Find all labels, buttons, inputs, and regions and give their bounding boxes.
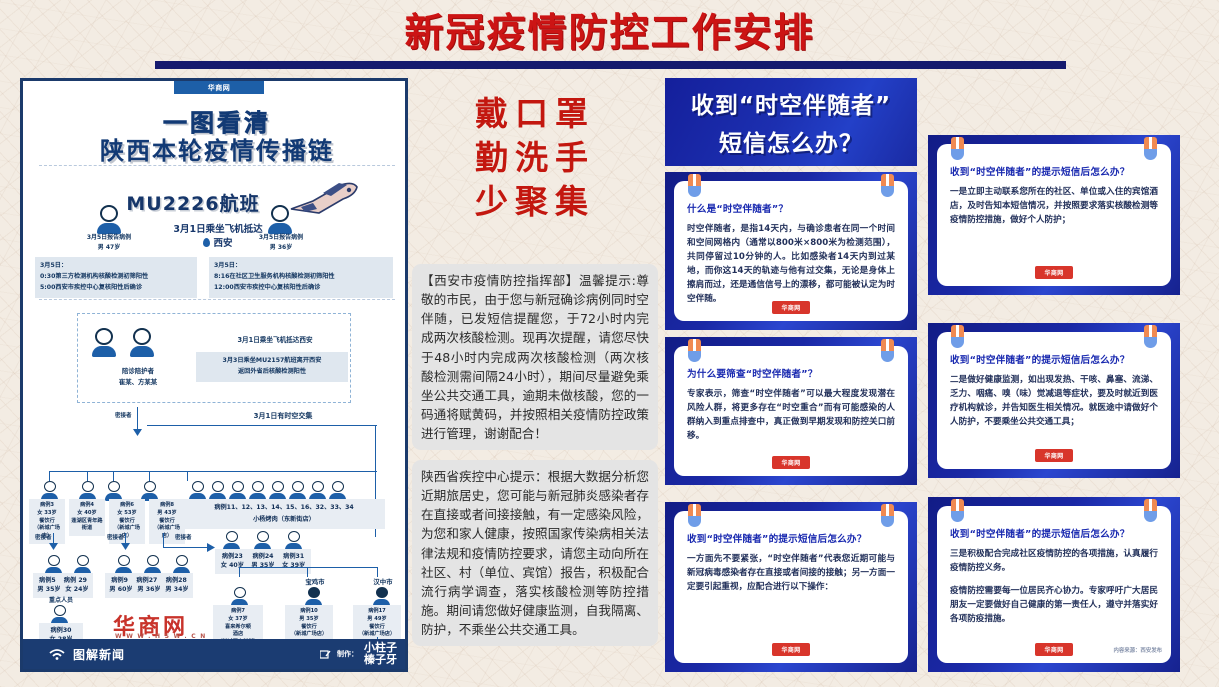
case-right-label: 3月5日报告病例 男 36岁	[235, 233, 327, 252]
pencil-icon	[320, 650, 331, 659]
brand-tab-label: 华商网	[208, 83, 231, 93]
case-tag-tier2-right: 病例23 病例24 病例31 女 40岁 男 35岁 女 39岁	[215, 549, 311, 574]
clip-icon-left	[951, 137, 964, 159]
clip-icon-right	[881, 504, 894, 526]
connector-h-top	[147, 425, 377, 426]
contact-label-1: 密接者	[115, 411, 132, 419]
infographic-heading-2: 陕西本轮疫情传播链	[23, 131, 408, 166]
info-card-1-body: 时空伴随者，是指14天内，与确诊患者在同一个时间和空间网格内（通常以800米×8…	[687, 223, 895, 307]
clip-icon-right	[1144, 137, 1157, 159]
watermark-logo: 华商网	[772, 456, 810, 469]
wifi-icon	[49, 649, 65, 660]
clip-icon-left	[688, 174, 701, 196]
info-card-4-body: 一是立即主动联系您所在的社区、单位或入住的宾馆酒店，及时告知本短信情况，并按照要…	[950, 186, 1158, 228]
person-companion-1	[92, 328, 116, 361]
page-title-bar: 新冠疫情防控工作安排	[0, 2, 1219, 58]
watermark-logo: 华商网	[1035, 643, 1073, 656]
info-card-1: 什么是“时空伴随者”？ 时空伴随者，是指14天内，与确诊患者在同一个时间和空间网…	[665, 172, 917, 330]
connector-v-t1-c	[113, 471, 114, 481]
companion-label: 陪诊陪护者 崔某、方某某	[80, 366, 196, 388]
person-group-cluster	[189, 481, 346, 501]
arrow-down-2	[49, 543, 58, 550]
clip-icon-left	[688, 504, 701, 526]
info-card-5-inner: 收到“时空伴随者”的提示短信后怎么办？ 二是做好健康监测，如出现发热、干咳、鼻塞…	[937, 332, 1171, 469]
case-tag-tier2-mid: 病例9 病例27 病例28 男 60岁 男 36岁 男 34岁	[105, 573, 193, 598]
slogan-line-3: 少聚集	[412, 180, 658, 224]
source-note: 内容来源：西安发布	[1113, 646, 1162, 654]
watermark-logo: 华商网	[772, 643, 810, 656]
connector-v-hanzhong	[377, 567, 378, 577]
case-tag-tier2-left: 病例5 病例 29 男 35岁 女 24岁	[33, 573, 93, 598]
page-title: 新冠疫情防控工作安排	[404, 2, 814, 58]
info-card-4-title: 收到“时空伴随者”的提示短信后怎么办？	[950, 166, 1158, 179]
connector-v-t1-b	[87, 471, 88, 481]
info-card-3-body: 一方面先不要紧张，“时空伴随者”代表您近期可能与新冠病毒感染者存在直接或者间接的…	[687, 553, 895, 595]
watermark-logo: 华商网	[1035, 449, 1073, 462]
infographic-brand-tab: 华商网	[174, 81, 264, 94]
connector-h-2	[163, 547, 209, 548]
connector-v-2	[163, 533, 164, 547]
infographic-panel: 华商网 一图看清 陕西本轮疫情传播链 MU2226航班 3月1日乘坐飞机抵达 西…	[20, 78, 408, 672]
info-card-5: 收到“时空伴随者”的提示短信后怎么办？ 二是做好健康监测，如出现发热、干咳、鼻塞…	[928, 323, 1180, 478]
sms-message-1: 【西安市疫情防控指挥部】温馨提示:尊敬的市民，由于您与新冠确诊病例同时空伴随，已…	[412, 264, 658, 450]
city-label-baoji: 宝鸡市	[291, 577, 339, 586]
case-tag-tier1-2: 病例4 女 40岁 莲湖区青年路 街道	[69, 499, 105, 536]
info-card-1-title: 什么是“时空伴随者”？	[687, 203, 895, 216]
arrival-city-label: 西安	[213, 238, 232, 249]
companion-depart-note: 3月3日乘坐MU2157航班离开西安 返回外省后核酸检测阳性	[196, 352, 348, 382]
info-card-6-body: 三是积极配合完成社区疫情防控的各项措施，认真履行疫情防控义务。	[950, 548, 1158, 576]
watermark-logo: 华商网	[772, 301, 810, 314]
info-card-3-title: 收到“时空伴随者”的提示短信后怎么办？	[687, 533, 895, 546]
contact-label-2: 密接者	[35, 533, 52, 541]
clip-icon-right	[1144, 499, 1157, 521]
connector-h-tier1	[49, 471, 377, 472]
divider-dashed-mid	[39, 299, 395, 300]
divider-dashed-top	[39, 165, 395, 166]
infographic-content: 华商网 一图看清 陕西本轮疫情传播链 MU2226航班 3月1日乘坐飞机抵达 西…	[23, 81, 405, 669]
info-card-3: 收到“时空伴随者”的提示短信后怎么办？ 一方面先不要紧张，“时空伴随者”代表您近…	[665, 502, 917, 672]
info-card-1-inner: 什么是“时空伴随者”？ 时空伴随者，是指14天内，与确诊患者在同一个时间和空间网…	[674, 181, 908, 321]
info-card-6-body-2: 疫情防控需要每一位居民齐心协力。专家呼吁广大居民朋友一定要做好自己健康的第一责任…	[950, 585, 1158, 627]
footer-credit: 小柱子 榛子牙	[364, 642, 397, 665]
case-tag-baoji: 病例10 男 35岁 餐饮行 （新城广场店）	[285, 605, 333, 642]
info-card-4-inner: 收到“时空伴随者”的提示短信后怎么办？ 一是立即主动联系您所在的社区、单位或入住…	[937, 144, 1171, 286]
info-card-2: 为什么要筛查“时空伴随者”？ 专家表示，筛查“时空伴随者”可以最大程度发现潜在风…	[665, 337, 917, 485]
arrow-right-1	[207, 543, 215, 552]
connector-v-t1-e	[187, 471, 188, 481]
clip-icon-right	[1144, 325, 1157, 347]
companion-arrive-note: 3月1日乘坐飞机抵达西安	[206, 334, 344, 344]
right-header-line-2: 短信怎么办？	[719, 124, 863, 158]
person-tier2-mid	[115, 555, 190, 575]
slogan-line-1: 戴口罩	[412, 92, 658, 136]
city-label-hanzhong: 汉中市	[359, 577, 407, 586]
airplane-icon	[283, 179, 361, 219]
contact-label-3: 密接者	[107, 533, 124, 541]
case-tag-group: 病例11、12、13、14、15、16、32、33、34 小杨烤肉（东新街店）	[183, 499, 385, 529]
footer-left-label: 图解新闻	[73, 646, 125, 663]
footer-made-label: 制作：	[337, 649, 358, 659]
watermark-logo: 华商网	[1035, 266, 1073, 279]
overlap-label: 3月1日有时空交集	[183, 411, 383, 421]
info-card-2-body: 专家表示，筛查“时空伴随者”可以最大程度发现潜在风险人群，将更多存在“时空重合”…	[687, 388, 895, 444]
info-card-4: 收到“时空伴随者”的提示短信后怎么办？ 一是立即主动联系您所在的社区、单位或入住…	[928, 135, 1180, 295]
clip-icon-left	[951, 325, 964, 347]
sms-message-2: 陕西省疾控中心提示：根据大数据分析您近期旅居史，您可能与新冠肺炎感染者存在直接或…	[412, 460, 658, 646]
info-card-2-inner: 为什么要筛查“时空伴随者”？ 专家表示，筛查“时空伴随者”可以最大程度发现潜在风…	[674, 346, 908, 476]
middle-column: 戴口罩 勤洗手 少聚集 【西安市疫情防控指挥部】温馨提示:尊敬的市民，由于您与新…	[412, 78, 658, 672]
clip-icon-right	[881, 174, 894, 196]
companion-group-box: 陪诊陪护者 崔某、方某某 3月1日乘坐飞机抵达西安 3月3日乘坐MU2157航班…	[77, 313, 351, 403]
location-pin-icon	[203, 238, 210, 247]
arrow-down-3	[121, 543, 130, 550]
key-person-label: 重点人员	[39, 595, 83, 604]
person-tier2-right	[223, 531, 302, 551]
clip-icon-left	[951, 499, 964, 521]
right-header-line-1: 收到“时空伴随者”	[691, 86, 891, 120]
connector-v-baoji	[307, 567, 308, 577]
case-right-detail-box: 3月5日： 8:16在社区卫生服务机构核酸检测初筛阳性 12:00西安市疾控中心…	[209, 257, 393, 298]
clip-icon-left	[688, 339, 701, 361]
slogan-line-2: 勤洗手	[412, 136, 658, 180]
info-card-5-title: 收到“时空伴随者”的提示短信后怎么办？	[950, 354, 1158, 367]
person-companion-2	[130, 328, 154, 361]
info-card-6-inner: 收到“时空伴随者”的提示短信后怎么办？ 三是积极配合完成社区疫情防控的各项措施，…	[937, 506, 1171, 663]
info-card-5-body: 二是做好健康监测，如出现发热、干咳、鼻塞、流涕、乏力、咽痛、嗅（味）觉减退等症状…	[950, 374, 1158, 430]
case-left-label: 3月5日报告病例 男 47岁	[63, 233, 155, 252]
infographic-footer: 图解新闻 制作： 小柱子 榛子牙	[23, 639, 405, 669]
connector-v-t1-d	[149, 471, 150, 481]
person-tier2-left	[45, 555, 91, 575]
arrow-down-1	[133, 429, 142, 436]
contact-label-4: 密接者	[175, 533, 192, 541]
slogan-block: 戴口罩 勤洗手 少聚集	[412, 78, 658, 224]
footer-right: 制作： 小柱子 榛子牙	[320, 642, 397, 665]
info-card-6-title: 收到“时空伴随者”的提示短信后怎么办？	[950, 528, 1158, 541]
info-card-2-title: 为什么要筛查“时空伴随者”？	[687, 368, 895, 381]
info-card-6: 收到“时空伴随者”的提示短信后怎么办？ 三是积极配合完成社区疫情防控的各项措施，…	[928, 497, 1180, 672]
connector-v-t1-a	[49, 471, 50, 481]
clip-icon-right	[881, 339, 894, 361]
info-card-3-inner: 收到“时空伴随者”的提示短信后怎么办？ 一方面先不要紧张，“时空伴随者”代表您近…	[674, 511, 908, 663]
connector-v-hotel	[239, 567, 240, 577]
case-left-detail-box: 3月5日： 0:30第三方检测机构核酸检测初筛阳性 5:00西安市疾控中心复核阳…	[35, 257, 197, 298]
right-header-card: 收到“时空伴随者” 短信怎么办？	[665, 78, 917, 166]
title-divider-rule	[155, 61, 1066, 69]
flight-number-label: MU2226航班	[93, 189, 293, 216]
